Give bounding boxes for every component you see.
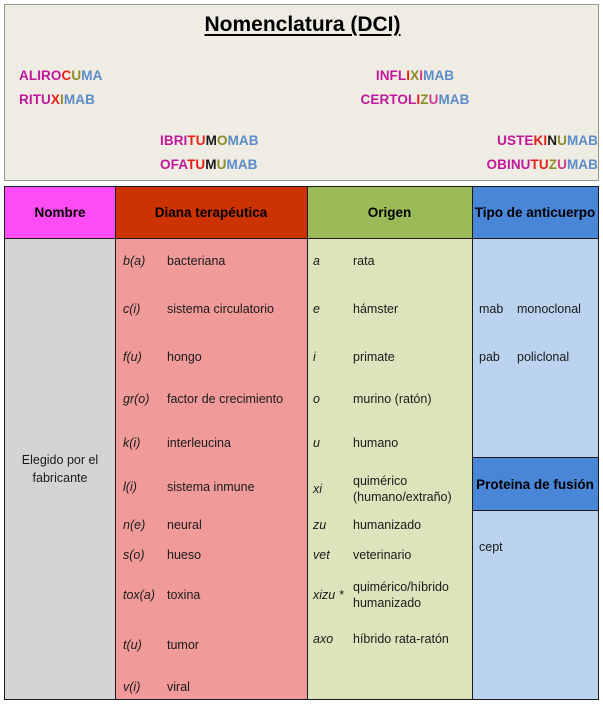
drug-name-segment: INFL <box>376 68 406 83</box>
entry-description: bacteriana <box>167 253 225 269</box>
diana-row: l(i)sistema inmune <box>123 479 307 495</box>
entry-abbreviation: v(i) <box>123 679 167 695</box>
origen-row: vetveterinario <box>313 547 471 563</box>
drug-name-segment: TU <box>531 157 549 172</box>
drug-name-segment: MAB <box>64 92 95 107</box>
entry-description: rata <box>353 253 375 269</box>
origen-row: xizu *quimérico/híbrido humanizado <box>313 579 471 611</box>
divider-diana-origen <box>307 187 308 699</box>
entry-description: sistema inmune <box>167 479 255 495</box>
drug-name-segment: USTE <box>497 133 533 148</box>
entry-description: hámster <box>353 301 398 317</box>
diana-row: k(i)interleucina <box>123 435 307 451</box>
entry-abbreviation: t(u) <box>123 637 167 653</box>
drug-name-segment: U <box>557 157 567 172</box>
drug-name-segment: IBRI <box>160 133 187 148</box>
entry-abbreviation: u <box>313 435 353 451</box>
drug-name-segment: OFA <box>160 157 187 172</box>
drug-name-segment: MAB <box>423 68 454 83</box>
entry-abbreviation: b(a) <box>123 253 167 269</box>
entry-abbreviation: cept <box>479 539 517 555</box>
entry-description: viral <box>167 679 190 695</box>
entry-description: humano <box>353 435 398 451</box>
banner-panel: Nomenclatura (DCI) ALIROCUMA RITUXIMAB I… <box>4 4 599 181</box>
drug-name-segment: CERTOL <box>361 92 417 107</box>
drug-name-segment: MA <box>81 68 102 83</box>
tipo-fusion-row: cept <box>479 539 597 555</box>
drug-name-segment: MAB <box>228 133 259 148</box>
entry-abbreviation: s(o) <box>123 547 167 563</box>
entry-abbreviation: zu <box>313 517 353 533</box>
header-tipo-anticuerpo: Tipo de anticuerpo <box>472 187 598 239</box>
diana-row: t(u)tumor <box>123 637 307 653</box>
entry-abbreviation: vet <box>313 547 353 563</box>
entry-abbreviation: pab <box>479 349 517 365</box>
drug-name: IBRITUMOMAB <box>160 129 259 153</box>
page-title: Nomenclatura (DCI) <box>5 13 600 37</box>
entry-abbreviation: e <box>313 301 353 317</box>
header-origen: Origen <box>307 187 472 239</box>
entry-abbreviation: o <box>313 391 353 407</box>
drug-group-lower-right: USTEKINUMAB OBINUTUZUMAB <box>471 129 598 177</box>
entry-description: hongo <box>167 349 202 365</box>
origen-row: iprimate <box>313 349 471 365</box>
column-diana-terapeutica: Diana terapéutica b(a)bacterianac(i)sist… <box>115 187 307 699</box>
drug-name-segment: M <box>206 133 217 148</box>
origen-row: ehámster <box>313 301 471 317</box>
drug-name-segment: U <box>429 92 439 107</box>
tipo-row: pabpoliclonal <box>479 349 597 365</box>
diana-row: v(i)viral <box>123 679 307 695</box>
drug-name-segment: O <box>217 133 228 148</box>
header-nombre: Nombre <box>5 187 115 239</box>
diana-row: n(e)neural <box>123 517 307 533</box>
drug-name-segment: Z <box>420 92 428 107</box>
page-title-text: Nomenclatura (DCI) <box>204 13 400 36</box>
entry-abbreviation: n(e) <box>123 517 167 533</box>
body-origen: arataehámsteriprimateomurino (ratón)uhum… <box>307 239 472 699</box>
drug-name-segment: X <box>410 68 419 83</box>
entry-description: policlonal <box>517 349 569 365</box>
drug-name-segment: MAB <box>438 92 469 107</box>
drug-name: INFLIXIMAB <box>350 64 480 88</box>
origen-row: axohíbrido rata-ratón <box>313 631 471 647</box>
drug-name-segment: MAB <box>567 157 598 172</box>
origen-row: arata <box>313 253 471 269</box>
diana-row: c(i)sistema circulatorio <box>123 301 307 317</box>
drug-name-segment: OBINU <box>487 157 531 172</box>
entry-abbreviation: xizu * <box>313 587 353 603</box>
diana-row: b(a)bacteriana <box>123 253 307 269</box>
body-tipo-anticuerpo: mabmonoclonalpabpoliclonalProteina de fu… <box>472 239 598 699</box>
drug-name-segment: M <box>205 157 216 172</box>
nomenclature-infographic: Nomenclatura (DCI) ALIROCUMA RITUXIMAB I… <box>0 0 603 704</box>
drug-name-segment: MAB <box>567 133 598 148</box>
nomenclature-table: Nombre Elegido por el fabricante Diana t… <box>4 186 599 700</box>
entry-abbreviation: c(i) <box>123 301 167 317</box>
origen-row: xiquimérico (humano/extraño) <box>313 473 471 505</box>
tipo-row: mabmonoclonal <box>479 301 597 317</box>
entry-description: neural <box>167 517 202 533</box>
entry-description: factor de crecimiento <box>167 391 283 407</box>
drug-name-segment: U <box>71 68 81 83</box>
entry-description: híbrido rata-ratón <box>353 631 449 647</box>
entry-abbreviation: f(u) <box>123 349 167 365</box>
drug-group-top-left: ALIROCUMA RITUXIMAB <box>19 64 102 112</box>
drug-name: RITUXIMAB <box>19 88 102 112</box>
divider-nombre-diana <box>115 187 116 699</box>
entry-abbreviation: xi <box>313 481 353 497</box>
divider-origen-tipo <box>472 187 473 699</box>
entry-description: interleucina <box>167 435 231 451</box>
entry-description: veterinario <box>353 547 411 563</box>
entry-description: murino (ratón) <box>353 391 432 407</box>
entry-abbreviation: a <box>313 253 353 269</box>
drug-name: CERTOLIZUMAB <box>350 88 480 112</box>
entry-abbreviation: mab <box>479 301 517 317</box>
entry-description: sistema circulatorio <box>167 301 274 317</box>
entry-abbreviation: tox(a) <box>123 587 167 603</box>
subheader-proteina-fusion: Proteina de fusión <box>472 457 598 511</box>
origen-row: uhumano <box>313 435 471 451</box>
entry-description: monoclonal <box>517 301 581 317</box>
origen-row: omurino (ratón) <box>313 391 471 407</box>
column-tipo-anticuerpo: Tipo de anticuerpo mabmonoclonalpabpolic… <box>472 187 598 699</box>
entry-description: tumor <box>167 637 199 653</box>
drug-name-segment: ALIRO <box>19 68 62 83</box>
drug-name-segment: N <box>547 133 557 148</box>
header-diana-terapeutica: Diana terapéutica <box>115 187 307 239</box>
column-nombre: Nombre Elegido por el fabricante <box>5 187 115 699</box>
drug-name-segment: TU <box>187 133 205 148</box>
entry-description: humanizado <box>353 517 421 533</box>
drug-name-segment: X <box>51 92 60 107</box>
origen-row: zuhumanizado <box>313 517 471 533</box>
drug-group-top-center: INFLIXIMAB CERTOLIZUMAB <box>350 64 480 112</box>
drug-name-segment: U <box>557 133 567 148</box>
diana-row: f(u)hongo <box>123 349 307 365</box>
entry-abbreviation: l(i) <box>123 479 167 495</box>
drug-name-segment: RITU <box>19 92 51 107</box>
drug-name: USTEKINUMAB <box>471 129 598 153</box>
drug-name-segment: C <box>62 68 72 83</box>
drug-name-segment: MAB <box>226 157 257 172</box>
drug-name-segment: TU <box>187 157 205 172</box>
diana-row: s(o)hueso <box>123 547 307 563</box>
entry-description: toxina <box>167 587 200 603</box>
column-origen: Origen arataehámsteriprimateomurino (rat… <box>307 187 472 699</box>
entry-description: quimérico (humano/extraño) <box>353 473 471 505</box>
diana-row: gr(o)factor de crecimiento <box>123 391 307 407</box>
drug-group-lower-left: IBRITUMOMAB OFATUMUMAB <box>160 129 259 177</box>
entry-description: primate <box>353 349 395 365</box>
entry-description: quimérico/híbrido humanizado <box>353 579 471 611</box>
drug-name: OBINUTUZUMAB <box>471 153 598 177</box>
entry-description: hueso <box>167 547 201 563</box>
drug-name: ALIROCUMA <box>19 64 102 88</box>
drug-name-segment: KI <box>534 133 548 148</box>
entry-abbreviation: axo <box>313 631 353 647</box>
entry-abbreviation: i <box>313 349 353 365</box>
entry-abbreviation: gr(o) <box>123 391 167 407</box>
drug-name: OFATUMUMAB <box>160 153 259 177</box>
nombre-cell-text: Elegido por el fabricante <box>5 239 115 699</box>
drug-name-segment: U <box>217 157 227 172</box>
body-nombre: Elegido por el fabricante <box>5 239 115 699</box>
entry-abbreviation: k(i) <box>123 435 167 451</box>
body-diana-terapeutica: b(a)bacterianac(i)sistema circulatoriof(… <box>115 239 307 699</box>
diana-row: tox(a)toxina <box>123 587 307 603</box>
drug-name-segment: Z <box>549 157 557 172</box>
